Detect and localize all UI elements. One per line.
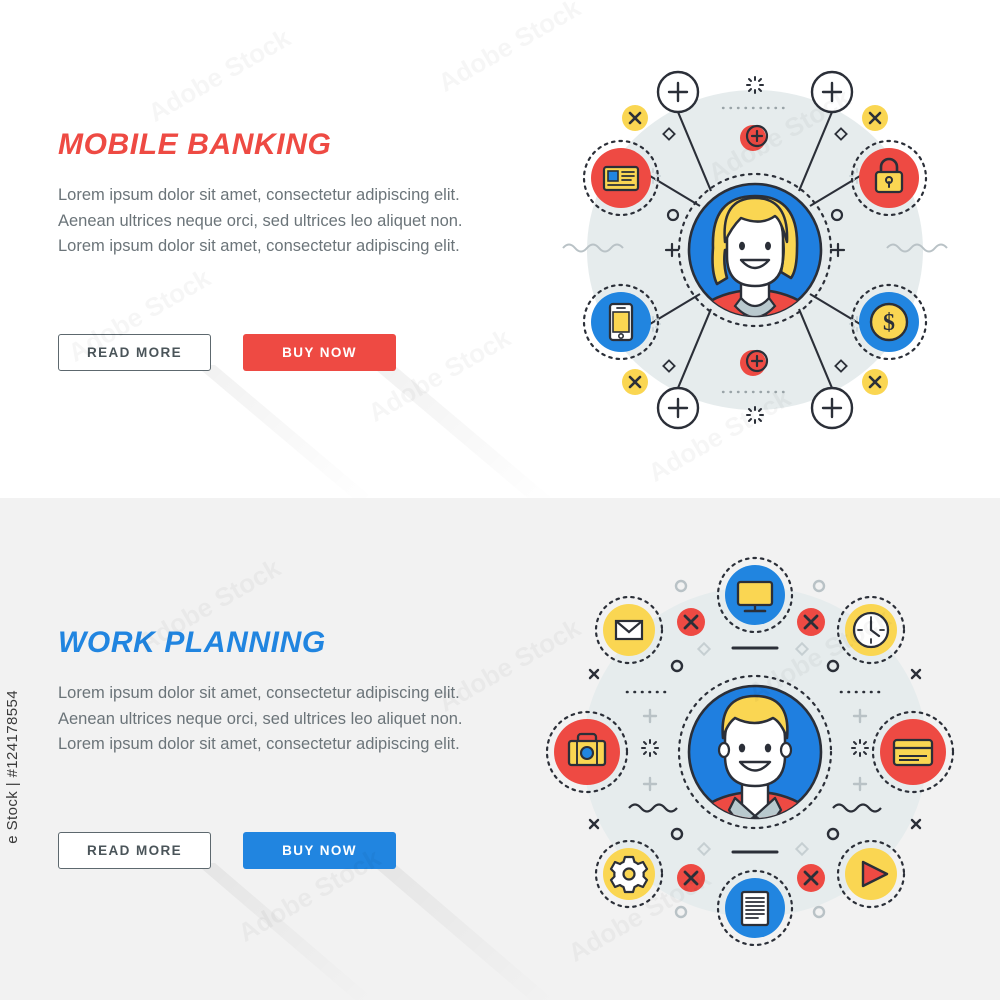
svg-text:$: $ [883,310,895,336]
button-row-bottom: READ MORE BUY NOW [58,832,396,869]
stock-watermark-label: e Stock | #124178554 [4,690,21,844]
node-briefcase [547,712,627,792]
close-circle-yellow-icon [622,369,648,395]
banner-copy-top: MOBILE BANKING Lorem ipsum dolor sit ame… [58,128,478,260]
illustration-work-planning [545,540,965,960]
id-card-icon [604,167,638,190]
read-more-button-shadow-bottom [195,863,375,1000]
read-more-button-top[interactable]: READ MORE [58,334,211,371]
close-circle-yellow-icon [862,105,888,131]
page-title-work-planning: WORK PLANNING [58,626,478,659]
node-envelope [596,597,662,663]
banner-body-text-bottom: Lorem ipsum dolor sit amet, consectetur … [58,681,470,758]
dollar-coin-icon: $ [871,304,907,340]
read-more-button-shadow-top [195,365,375,498]
banner-copy-bottom: WORK PLANNING Lorem ipsum dolor sit amet… [58,626,478,758]
plus-circle-outline-icon [658,388,698,428]
plus-circle-outline-icon [812,72,852,112]
gear-icon [611,857,647,892]
close-circle-red-icon [797,864,825,892]
credit-card-icon [894,740,932,765]
page-title-mobile-banking: MOBILE BANKING [58,128,478,161]
banner-mobile-banking: MOBILE BANKING Lorem ipsum dolor sit ame… [0,0,1000,498]
buy-now-button-shadow-top [370,365,560,498]
document-icon [742,892,768,925]
banner-page: MOBILE BANKING Lorem ipsum dolor sit ame… [0,0,1000,1000]
node-clock [838,597,904,663]
buy-now-button-bottom[interactable]: BUY NOW [243,832,396,869]
smartphone-icon [610,304,632,340]
close-circle-yellow-icon [862,369,888,395]
banner-body-text-top: Lorem ipsum dolor sit amet, consectetur … [58,183,470,260]
clock-icon [854,613,888,647]
node-document [718,871,792,945]
plus-circle-outline-icon [812,388,852,428]
illustration-mobile-banking: $ [545,60,965,440]
buy-now-button-shadow-bottom [370,863,560,1000]
banner-work-planning: WORK PLANNING Lorem ipsum dolor sit amet… [0,498,1000,1000]
close-circle-red-icon [797,608,825,636]
node-play [838,841,904,907]
plus-circle-outline-icon [658,72,698,112]
button-row-top: READ MORE BUY NOW [58,334,396,371]
envelope-icon [616,621,642,639]
close-circle-yellow-icon [622,105,648,131]
close-circle-red-icon [677,864,705,892]
buy-now-button-top[interactable]: BUY NOW [243,334,396,371]
close-circle-red-icon [677,608,705,636]
node-gear [596,841,662,907]
node-smartphone [584,285,658,359]
read-more-button-bottom[interactable]: READ MORE [58,832,211,869]
